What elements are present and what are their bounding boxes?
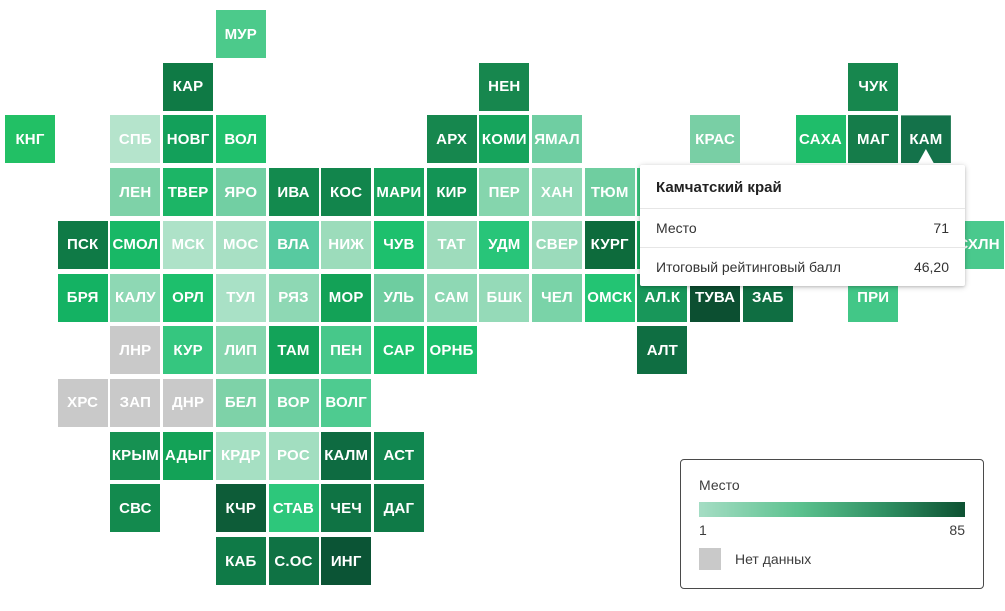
map-tile[interactable]: АДЫГ (163, 432, 213, 480)
map-tile-label: ТАТ (438, 237, 466, 252)
map-tile[interactable]: ТУЛ (216, 274, 266, 322)
map-tile[interactable]: МАГ (848, 115, 898, 163)
map-tile-label: ВОР (277, 395, 310, 410)
region-tooltip: Камчатский край Место71Итоговый рейтинго… (640, 165, 965, 286)
map-tile[interactable]: САХА (796, 115, 846, 163)
map-tile-label: АРХ (436, 132, 467, 147)
map-tile[interactable]: ЧЕЛ (532, 274, 582, 322)
map-tile[interactable]: РЯЗ (269, 274, 319, 322)
map-tile[interactable]: КРАС (690, 115, 740, 163)
map-tile[interactable]: КРЫМ (110, 432, 160, 480)
nodata-swatch-icon (699, 548, 721, 570)
map-tile[interactable]: ЧУК (848, 63, 898, 111)
map-tile[interactable]: НОВГ (163, 115, 213, 163)
map-tile-label: НОВГ (167, 132, 210, 147)
map-tile[interactable]: СПБ (110, 115, 160, 163)
map-tile-label: КРЫМ (112, 448, 159, 463)
map-tile-label: МАРИ (376, 185, 421, 200)
map-tile[interactable]: УЛЬ (374, 274, 424, 322)
map-tile-label: МСК (172, 237, 205, 252)
map-tile[interactable]: ЧУВ (374, 221, 424, 269)
tooltip-row: Место71 (640, 209, 965, 248)
map-tile-label: ЧУК (858, 79, 888, 94)
map-tile[interactable]: ТАМ (269, 326, 319, 374)
map-tile[interactable]: НИЖ (321, 221, 371, 269)
tooltip-row: Итоговый рейтинговый балл46,20 (640, 248, 965, 286)
map-tile[interactable]: ТЮМ (585, 168, 635, 216)
map-tile[interactable]: ХРС (58, 379, 108, 427)
map-tile-label: СВЕР (536, 237, 578, 252)
map-tile-label: ХРС (67, 395, 98, 410)
map-tile[interactable]: БЕЛ (216, 379, 266, 427)
map-tile-label: КОС (330, 185, 362, 200)
map-tile[interactable]: ИНГ (321, 537, 371, 585)
tooltip-row-value: 46,20 (914, 259, 949, 275)
map-tile-label: КАЛУ (115, 290, 156, 305)
map-tile[interactable]: ВОР (269, 379, 319, 427)
map-tile[interactable]: ЗАП (110, 379, 160, 427)
map-tile-label: СТАВ (273, 501, 314, 516)
map-tile[interactable]: ОМСК (585, 274, 635, 322)
map-tile[interactable]: МАРИ (374, 168, 424, 216)
map-tile[interactable]: СВЕР (532, 221, 582, 269)
map-tile[interactable]: ТВЕР (163, 168, 213, 216)
map-tile[interactable]: ТАТ (427, 221, 477, 269)
map-tile[interactable]: КАБ (216, 537, 266, 585)
map-tile[interactable]: ПЕР (479, 168, 529, 216)
map-tile[interactable]: КАЛУ (110, 274, 160, 322)
map-tile-label: БЕЛ (225, 395, 257, 410)
map-tile[interactable]: ЯМАЛ (532, 115, 582, 163)
map-tile[interactable]: ДНР (163, 379, 213, 427)
map-tile-label: МОС (223, 237, 259, 252)
map-tile[interactable]: ЛЕН (110, 168, 160, 216)
map-tile-label: БШК (486, 290, 522, 305)
map-tile[interactable]: КОМИ (479, 115, 529, 163)
map-tile-label: КНГ (15, 132, 44, 147)
map-tile-label: КАР (173, 79, 204, 94)
map-tile-label: КАЛМ (324, 448, 368, 463)
map-tile-label: УДМ (488, 237, 520, 252)
map-tile[interactable]: КОС (321, 168, 371, 216)
map-tile-label: СПБ (119, 132, 152, 147)
legend-title: Место (699, 477, 965, 493)
map-tile-label: ЛИП (224, 343, 257, 358)
map-tile[interactable]: УДМ (479, 221, 529, 269)
map-tile-label: ЛНР (119, 343, 151, 358)
map-tile-label: КАБ (225, 554, 256, 569)
map-tile[interactable]: С.ОС (269, 537, 319, 585)
map-tile[interactable]: ЯРО (216, 168, 266, 216)
legend-gradient-bar (699, 502, 965, 517)
map-tile[interactable]: ЧЕЧ (321, 484, 371, 532)
map-tile-label: ВЛА (277, 237, 309, 252)
map-tile-label: НИЖ (328, 237, 364, 252)
map-tile[interactable]: БРЯ (58, 274, 108, 322)
map-tile-label: АЛ.К (645, 290, 681, 305)
map-tile-label: ЯМАЛ (534, 132, 580, 147)
map-tile[interactable]: ВОЛГ (321, 379, 371, 427)
map-tile-label: УЛЬ (384, 290, 415, 305)
map-tile[interactable]: ПЕН (321, 326, 371, 374)
map-tile-label: ХАН (541, 185, 573, 200)
map-tile-label: ОМСК (587, 290, 632, 305)
map-tile-label: ТАМ (277, 343, 309, 358)
map-tile[interactable]: ОРНБ (427, 326, 477, 374)
map-tile-label: КУР (173, 343, 202, 358)
map-tile-label: ВОЛ (224, 132, 257, 147)
map-tile[interactable]: КАР (163, 63, 213, 111)
map-tile[interactable]: МОР (321, 274, 371, 322)
map-tile[interactable]: ИВА (269, 168, 319, 216)
map-tile[interactable]: АЛТ (637, 326, 687, 374)
legend-nodata-entry: Нет данных (699, 548, 965, 570)
map-tile[interactable]: ВЛА (269, 221, 319, 269)
map-tile[interactable]: АСТ (374, 432, 424, 480)
map-tile-label: ЧУВ (383, 237, 414, 252)
map-tile-label: САР (383, 343, 415, 358)
map-tile[interactable]: КИР (427, 168, 477, 216)
map-tile-label: ОРНБ (430, 343, 474, 358)
map-tile[interactable]: КРДР (216, 432, 266, 480)
map-tile[interactable]: АРХ (427, 115, 477, 163)
map-tile-label: ТУЛ (226, 290, 255, 305)
map-tile-label: МОР (329, 290, 364, 305)
map-tile-label: ИВА (277, 185, 309, 200)
map-tile-label: ДНР (172, 395, 204, 410)
map-tile-label: ЯРО (224, 185, 257, 200)
map-tile-label: КУРГ (591, 237, 629, 252)
map-tile[interactable]: ЛИП (216, 326, 266, 374)
map-tile[interactable]: МУР (216, 10, 266, 58)
legend-min-label: 1 (699, 522, 707, 538)
map-tile-label: АЛТ (647, 343, 678, 358)
map-tile[interactable]: БШК (479, 274, 529, 322)
map-tile-label: ПЕН (330, 343, 362, 358)
map-tile-label: ТВЕР (168, 185, 209, 200)
map-tile[interactable]: МСК (163, 221, 213, 269)
map-tile-label: ТУВА (695, 290, 735, 305)
map-tile[interactable]: РОС (269, 432, 319, 480)
tooltip-row-label: Место (656, 220, 697, 236)
map-tile-label: КИР (436, 185, 467, 200)
map-tile-label: КАМ (909, 132, 942, 147)
map-tile[interactable]: ДАГ (374, 484, 424, 532)
map-tile[interactable]: КАЛМ (321, 432, 371, 480)
map-tile[interactable]: ВОЛ (216, 115, 266, 163)
map-tile[interactable]: ОРЛ (163, 274, 213, 322)
map-tile[interactable]: ПСК (58, 221, 108, 269)
map-tile-label: ЧЕЛ (541, 290, 573, 305)
tooltip-row-label: Итоговый рейтинговый балл (656, 259, 841, 275)
map-tile-label: РОС (277, 448, 310, 463)
tooltip-rows: Место71Итоговый рейтинговый балл46,20 (640, 209, 965, 286)
legend-max-label: 85 (949, 522, 965, 538)
map-tile-label: ЗАП (120, 395, 151, 410)
map-tile[interactable]: СТАВ (269, 484, 319, 532)
map-tile[interactable]: КЧР (216, 484, 266, 532)
map-tile-label: ПСК (67, 237, 98, 252)
map-tile[interactable]: КУР (163, 326, 213, 374)
map-tile[interactable]: ХАН (532, 168, 582, 216)
map-tile-label: ТЮМ (591, 185, 629, 200)
map-tile[interactable]: МОС (216, 221, 266, 269)
map-tile-label: САХА (799, 132, 842, 147)
tooltip-row-value: 71 (933, 220, 949, 236)
map-tile-label: ЛЕН (119, 185, 151, 200)
map-tile[interactable]: ЛНР (110, 326, 160, 374)
map-tile[interactable]: САМ (427, 274, 477, 322)
map-tile[interactable]: САР (374, 326, 424, 374)
map-tile-label: С.ОС (274, 554, 312, 569)
legend-panel: Место 1 85 Нет данных (680, 459, 984, 589)
map-tile-label: ПЕР (489, 185, 520, 200)
map-tile[interactable]: КНГ (5, 115, 55, 163)
map-tile-label: НЕН (488, 79, 520, 94)
map-tile-label: АСТ (384, 448, 415, 463)
map-tile-label: ИНГ (331, 554, 362, 569)
map-tile[interactable]: СМОЛ (110, 221, 160, 269)
map-tile-label: МАГ (857, 132, 889, 147)
map-tile-label: ДАГ (384, 501, 415, 516)
map-tile-label: КРДР (221, 448, 261, 463)
map-tile[interactable]: СВС (110, 484, 160, 532)
map-tile-label: САМ (434, 290, 468, 305)
map-tile-label: КЧР (225, 501, 256, 516)
map-tile-label: СВС (119, 501, 152, 516)
map-tile[interactable]: КУРГ (585, 221, 635, 269)
map-tile-label: ОРЛ (172, 290, 204, 305)
map-tile-label: АДЫГ (165, 448, 211, 463)
map-tile-label: ВОЛГ (325, 395, 367, 410)
map-tile-label: КОМИ (482, 132, 527, 147)
legend-nodata-label: Нет данных (735, 551, 811, 567)
map-tile-label: КРАС (695, 132, 735, 147)
tooltip-title: Камчатский край (640, 165, 965, 209)
legend-scale: 1 85 (699, 522, 965, 538)
map-tile-label: МУР (225, 27, 257, 42)
map-tile-label: СМОЛ (113, 237, 159, 252)
map-tile-label: ПРИ (857, 290, 889, 305)
map-tile[interactable]: НЕН (479, 63, 529, 111)
map-tile-label: БРЯ (67, 290, 99, 305)
map-tile[interactable]: КАМ (901, 115, 951, 163)
map-tile-label: РЯЗ (278, 290, 308, 305)
map-tile-label: ЧЕЧ (330, 501, 362, 516)
map-tile-label: ЗАБ (752, 290, 784, 305)
